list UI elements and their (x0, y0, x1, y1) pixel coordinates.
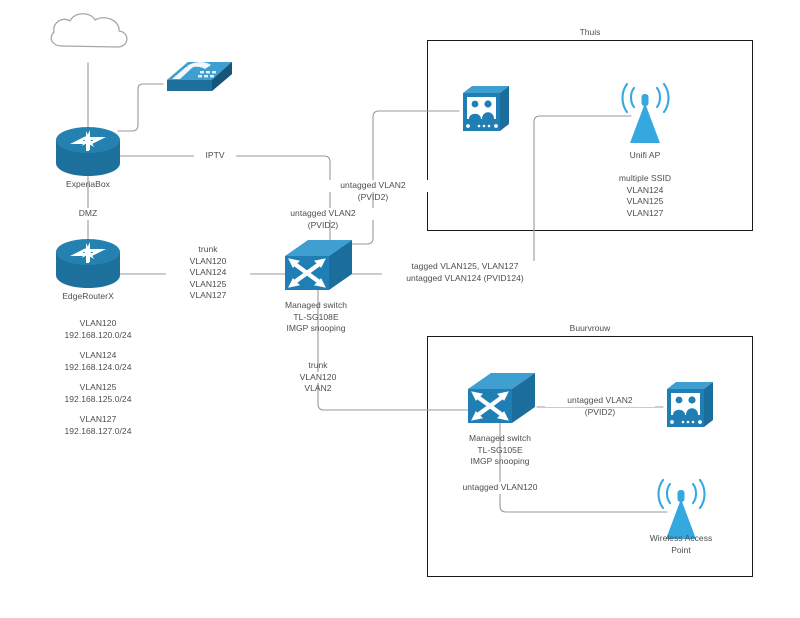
untagged-vlan2-buur-line-1: untagged VLAN2 (545, 395, 655, 407)
subnet-block: VLAN125 192.168.125.0/24 (28, 382, 168, 405)
edge-label-untagged-vlan120: untagged VLAN120 (432, 482, 568, 494)
switch-main-line-1: Managed switch (256, 300, 376, 312)
edge-phone-to-experiabox (118, 84, 163, 131)
untagged-vlan2-tv-line-2: (PVID2) (318, 192, 428, 204)
edgerouter-subnet-annotations: VLAN120 192.168.120.0/24 VLAN124 192.168… (28, 318, 168, 437)
unifi-ssid-annotation: multiple SSID VLAN124 VLAN125 VLAN127 (600, 173, 690, 219)
tagged-ap-line-1: tagged VLAN125, VLAN127 (382, 261, 548, 273)
ssid-vlan: VLAN127 (600, 208, 690, 220)
trunk-line-2: VLAN120 (166, 256, 250, 268)
edge-label-untagged-vlan2-tv-buur: untagged VLAN2 (PVID2) (545, 395, 655, 418)
subnet-block: VLAN127 192.168.127.0/24 (28, 414, 168, 437)
trunk-neighbour-line-2: VLAN120 (278, 372, 358, 384)
trunk-neighbour-line-1: trunk (278, 360, 358, 372)
group-title-buurvrouw: Buurvrouw (427, 323, 753, 333)
ssid-title: multiple SSID (600, 173, 690, 185)
node-label-wireless-ap-buurvrouw: Wireless Access Point (626, 533, 736, 556)
subnet-vlan: VLAN127 (28, 414, 168, 426)
edge-label-untagged-vlan2-tv: untagged VLAN2 (PVID2) (318, 180, 428, 203)
node-label-unifi-ap: Unifi AP (600, 150, 690, 162)
untagged-vlan2-buur-line-2: (PVID2) (545, 407, 655, 419)
edge-label-trunk-neighbour: trunk VLAN120 VLAN2 (278, 360, 358, 395)
group-title-thuis: Thuis (427, 27, 753, 37)
node-label-edgerouterx: EdgeRouterX (40, 291, 136, 303)
untagged-vlan2-left-line-1: untagged VLAN2 (268, 208, 378, 220)
subnet-block: VLAN124 192.168.124.0/24 (28, 350, 168, 373)
edge-label-tagged-ap: tagged VLAN125, VLAN127 untagged VLAN124… (382, 261, 548, 284)
ssid-vlan: VLAN125 (600, 196, 690, 208)
edge-label-dmz: DMZ (62, 208, 114, 220)
network-diagram-canvas: Thuis Buurvrouw (0, 0, 800, 618)
trunk-line-4: VLAN125 (166, 279, 250, 291)
ssid-vlan: VLAN124 (600, 185, 690, 197)
subnet-cidr: 192.168.124.0/24 (28, 362, 168, 374)
edge-label-untagged-vlan2-left: untagged VLAN2 (PVID2) (268, 208, 378, 231)
switch-neighbour-line-3: IMGP snooping (440, 456, 560, 468)
subnet-cidr: 192.168.127.0/24 (28, 426, 168, 438)
subnet-vlan: VLAN124 (28, 350, 168, 362)
subnet-cidr: 192.168.120.0/24 (28, 330, 168, 342)
switch-main-line-3: IMGP snooping (256, 323, 376, 335)
trunk-line-1: trunk (166, 244, 250, 256)
subnet-vlan: VLAN120 (28, 318, 168, 330)
wireless-ap-line-1: Wireless Access (626, 533, 736, 545)
tagged-ap-line-2: untagged VLAN124 (PVID124) (382, 273, 548, 285)
node-label-managed-switch-neighbour: Managed switch TL-SG105E IMGP snooping (440, 433, 560, 468)
edge-label-iptv: IPTV (194, 150, 236, 162)
trunk-neighbour-line-3: VLAN2 (278, 383, 358, 395)
untagged-vlan2-left-line-2: (PVID2) (268, 220, 378, 232)
subnet-block: VLAN120 192.168.120.0/24 (28, 318, 168, 341)
wireless-ap-line-2: Point (626, 545, 736, 557)
subnet-vlan: VLAN125 (28, 382, 168, 394)
node-label-experiabox: ExperiaBox (40, 179, 136, 191)
connection-lines (0, 0, 800, 618)
subnet-cidr: 192.168.125.0/24 (28, 394, 168, 406)
node-label-managed-switch-main: Managed switch TL-SG108E IMGP snooping (256, 300, 376, 335)
trunk-line-5: VLAN127 (166, 290, 250, 302)
switch-neighbour-line-2: TL-SG105E (440, 445, 560, 457)
edge-experiabox-to-switch-iptv (120, 156, 330, 248)
switch-neighbour-line-1: Managed switch (440, 433, 560, 445)
switch-main-line-2: TL-SG108E (256, 312, 376, 324)
untagged-vlan2-tv-line-1: untagged VLAN2 (318, 180, 428, 192)
edge-label-trunk-edgerouter: trunk VLAN120 VLAN124 VLAN125 VLAN127 (166, 244, 250, 302)
trunk-line-3: VLAN124 (166, 267, 250, 279)
